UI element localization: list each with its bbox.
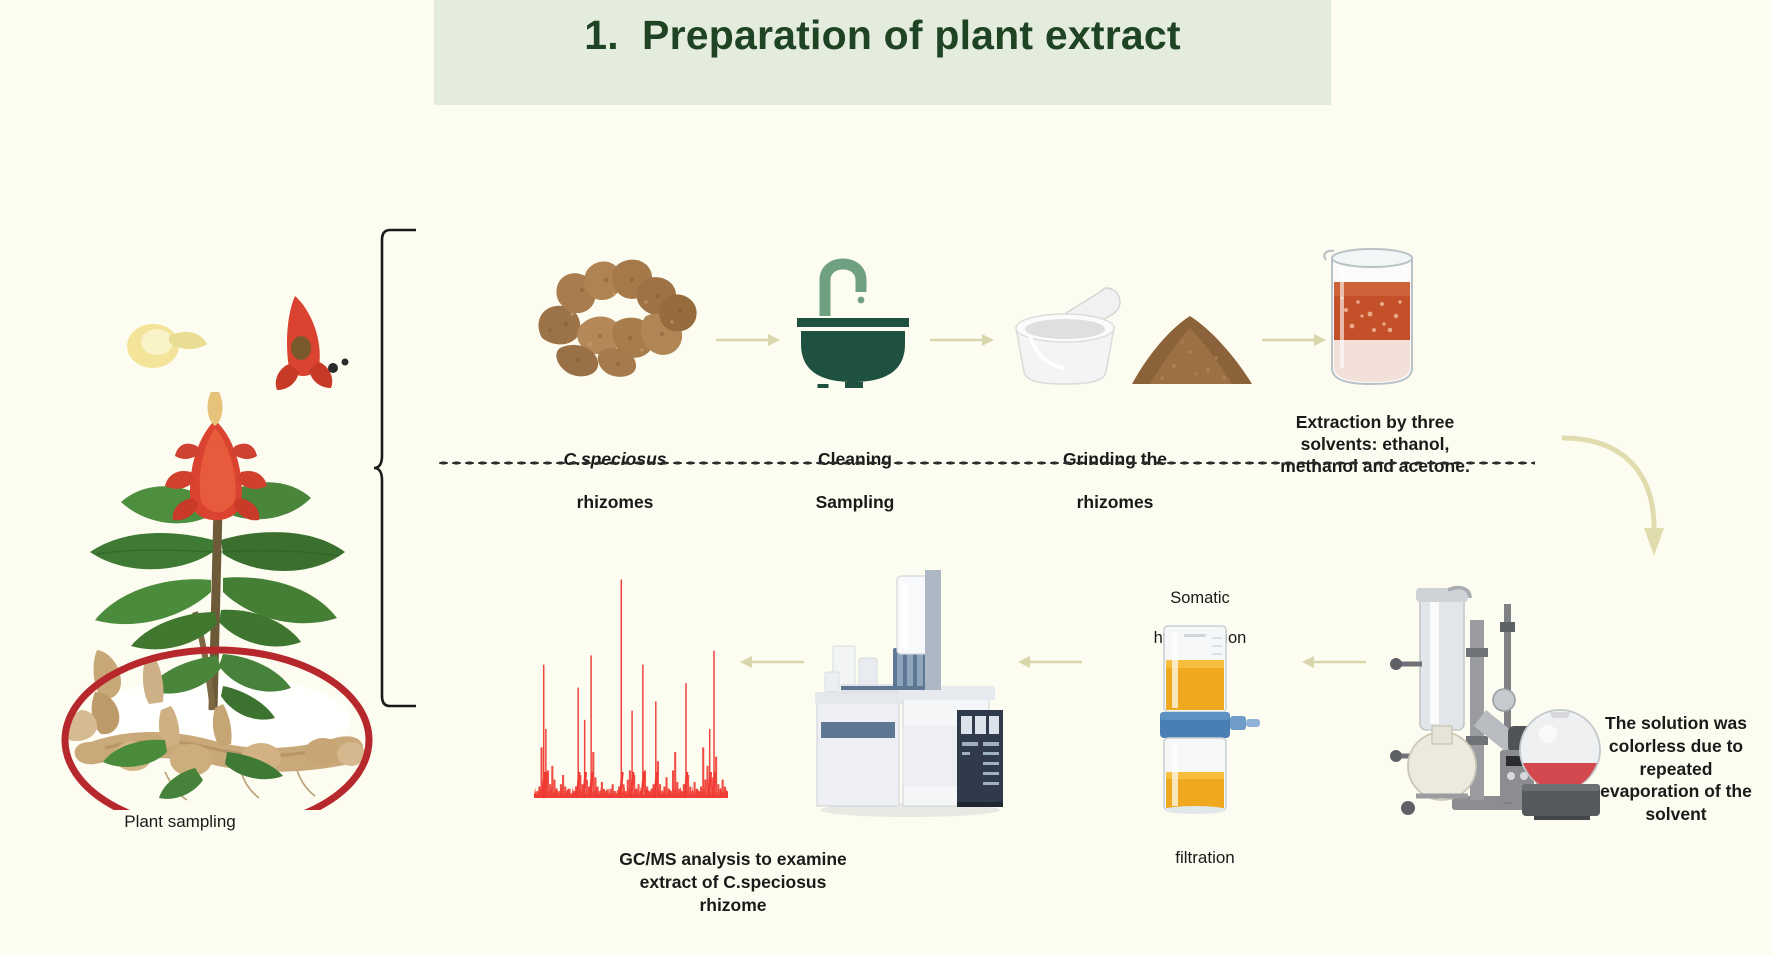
rhizome-pile-icon: [520, 250, 710, 380]
step-cleaning-label: Cleaning Sampling: [760, 428, 950, 513]
step-rhizomes-label: C.speciosus rhizomes: [505, 428, 725, 513]
arrow-filtration-to-gcms: [1018, 654, 1084, 670]
arrow-evaporation-to-filtration: [1302, 654, 1368, 670]
beaker-icon: [1312, 240, 1432, 390]
figure-canvas: 1. Preparation of plant extract: [0, 0, 1772, 955]
step-grinding-label: Grinding the rhizomes: [1000, 428, 1230, 513]
step-extraction-label: Extraction by three solvents: ethanol, m…: [1262, 412, 1488, 478]
page-title: 1. Preparation of plant extract: [434, 12, 1331, 59]
grouping-brace: [372, 228, 420, 708]
arrow-gcms-to-chromatogram: [740, 654, 806, 670]
step-filtration-label: filtration: [1110, 848, 1300, 869]
somatic-hybridization-line1: Somatic: [1170, 589, 1230, 607]
arrow-cleaning-to-grinding: [930, 332, 996, 348]
step-evaporation-label: The solution was colorless due to repeat…: [1592, 712, 1760, 826]
step-gcms-label: GC/MS analysis to examine extract of C.s…: [608, 848, 858, 916]
step-rhizomes-label-line1: C.speciosus: [563, 449, 666, 469]
step-grinding-label-line1: Grinding the: [1063, 449, 1167, 469]
gcms-instrument-icon: [815, 536, 1005, 818]
curved-arrow-to-evaporation: [1556, 430, 1676, 580]
section-divider: [437, 461, 1535, 465]
chromatogram-icon: [534, 560, 728, 800]
plant-sampling-label: Plant sampling: [90, 812, 270, 833]
arrow-rhizomes-to-cleaning: [716, 332, 782, 348]
sink-icon: [793, 258, 913, 388]
filtration-column-icon: [1140, 622, 1270, 814]
step-cleaning-label-line2: Sampling: [816, 492, 895, 512]
step-cleaning-label-line1: Cleaning: [818, 449, 892, 469]
ground-powder-icon: [1128, 312, 1258, 388]
mortar-pestle-icon: [1000, 276, 1130, 386]
step-grinding-label-line2: rhizomes: [1077, 492, 1154, 512]
rotary-evaporator-icon: [1382, 560, 1602, 820]
step-rhizomes-label-line2: rhizomes: [577, 492, 654, 512]
plant-illustration: [45, 240, 385, 810]
